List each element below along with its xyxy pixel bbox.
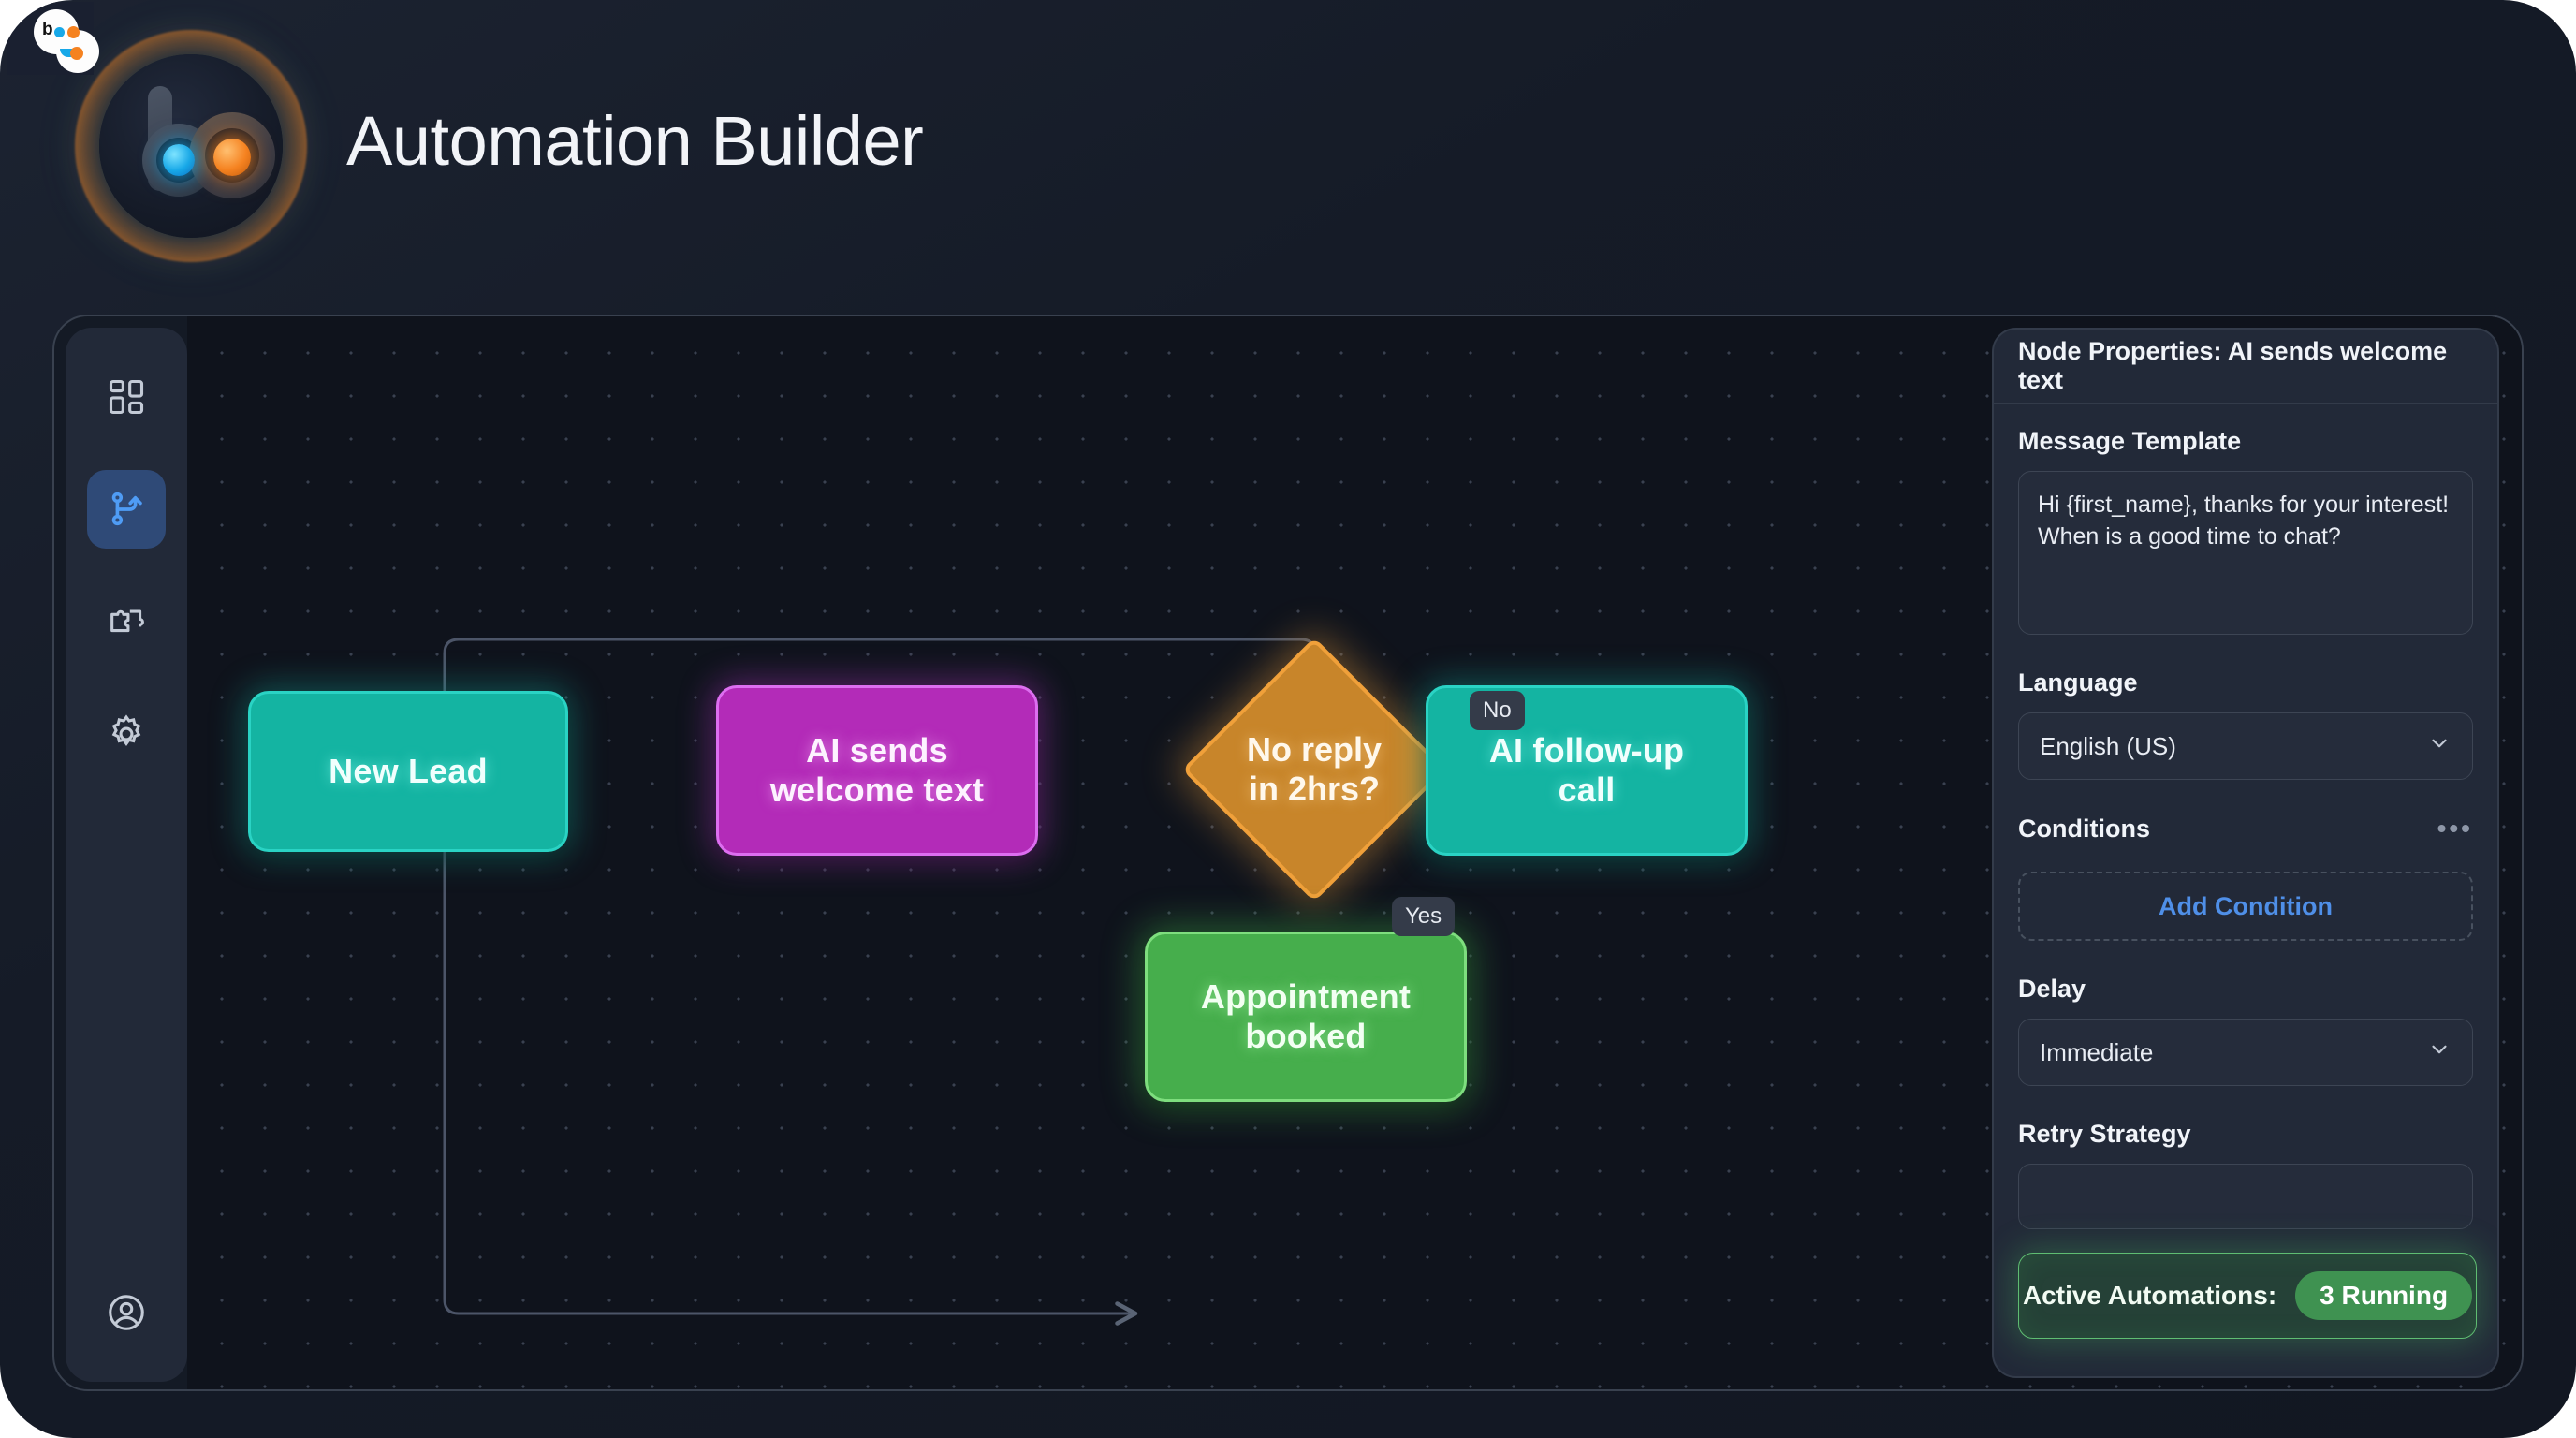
sidebar-rail — [66, 328, 187, 1382]
page-title: Automation Builder — [346, 101, 923, 181]
node-new-lead[interactable]: New Lead — [248, 691, 568, 852]
delay-label: Delay — [2018, 975, 2473, 1004]
node-label: New Lead — [329, 752, 488, 791]
delay-value: Immediate — [2040, 1038, 2153, 1067]
status-badge: Active Automations: 3 Running — [2018, 1253, 2477, 1339]
chevron-down-icon — [2427, 1037, 2452, 1068]
add-condition-button[interactable]: Add Condition — [2018, 872, 2473, 941]
node-label: AI sends welcome text — [770, 731, 985, 810]
node-no-reply-decision[interactable]: No reply in 2hrs? — [1189, 644, 1440, 895]
node-label: No reply in 2hrs? — [1189, 644, 1440, 895]
chevron-down-icon — [2427, 731, 2452, 762]
node-properties-panel: Node Properties: AI sends welcome text M… — [1992, 328, 2499, 1378]
message-template-input[interactable]: Hi {first_name}, thanks for your interes… — [2018, 471, 2473, 635]
message-template-label: Message Template — [2018, 427, 2473, 456]
language-select[interactable]: English (US) — [2018, 712, 2473, 780]
bo-logo — [75, 30, 307, 262]
panel-title: Node Properties: AI sends welcome text — [1994, 330, 2497, 404]
user-circle-icon — [105, 1291, 148, 1334]
conditions-label: Conditions — [2018, 814, 2150, 844]
node-label: AI follow-up call — [1489, 731, 1684, 810]
app-window: b Automation Builder — [0, 0, 2576, 1438]
sidebar-item-account[interactable] — [87, 1273, 166, 1352]
app-favicon: b — [7, 2, 94, 75]
sidebar-item-workflows[interactable] — [87, 470, 166, 549]
puzzle-icon — [105, 600, 148, 643]
status-label: Active Automations: — [2023, 1281, 2276, 1311]
sidebar-item-settings[interactable] — [87, 695, 166, 773]
gear-icon — [105, 712, 148, 756]
conditions-overflow-menu-icon[interactable]: ••• — [2437, 814, 2473, 844]
retry-strategy-select[interactable] — [2018, 1164, 2473, 1229]
language-value: English (US) — [2040, 732, 2176, 761]
sidebar-item-integrations[interactable] — [87, 582, 166, 661]
edge-label-no: No — [1470, 691, 1525, 730]
grid-icon — [106, 376, 147, 418]
node-appointment-booked[interactable]: Appointment booked — [1145, 932, 1467, 1102]
node-ai-sends-welcome-text[interactable]: AI sends welcome text — [716, 685, 1038, 856]
edge-label-yes: Yes — [1392, 897, 1455, 936]
language-label: Language — [2018, 668, 2473, 697]
status-count-pill: 3 Running — [2295, 1271, 2472, 1320]
retry-strategy-label: Retry Strategy — [2018, 1120, 2473, 1149]
sidebar-item-dashboard[interactable] — [87, 358, 166, 436]
node-label: Appointment booked — [1201, 977, 1411, 1056]
builder-frame: New Lead AI sends welcome text No reply … — [52, 315, 2524, 1391]
app-header: Automation Builder — [0, 0, 2576, 309]
delay-select[interactable]: Immediate — [2018, 1019, 2473, 1086]
workflow-branch-icon — [105, 488, 148, 531]
